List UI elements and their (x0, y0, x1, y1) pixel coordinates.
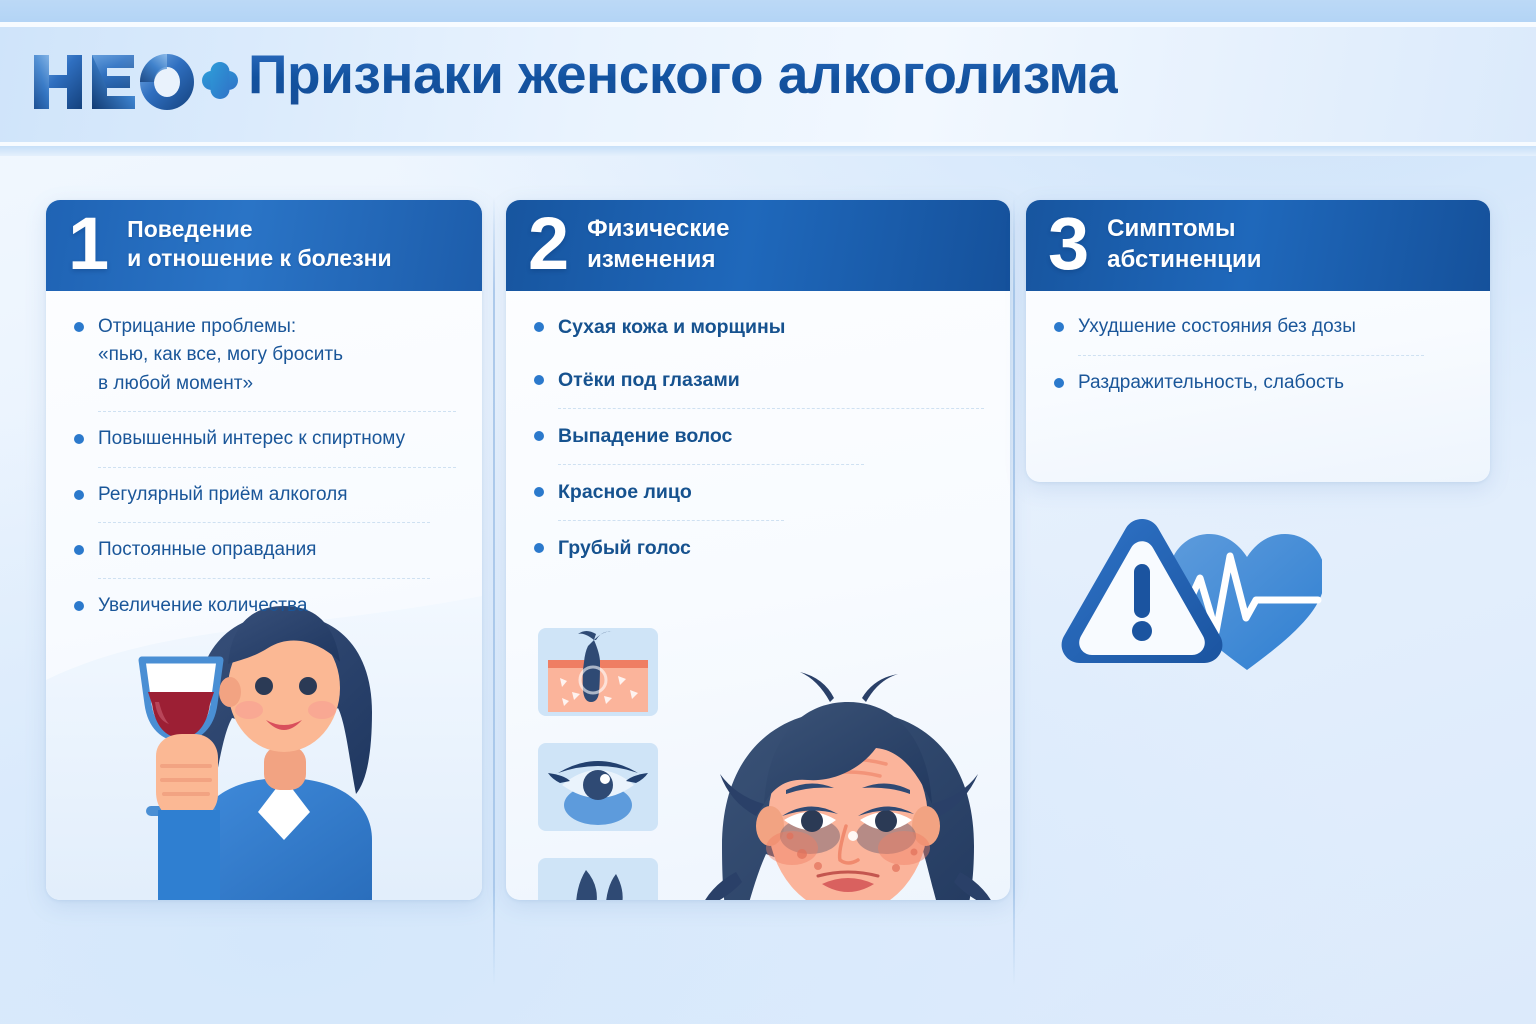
list-divider (98, 411, 456, 412)
infographic-page: Признаки женского алкоголизма 1 Поведени… (0, 0, 1536, 1024)
neo-plus-logo-icon[interactable] (30, 46, 240, 118)
card-3-number: 3 (1048, 214, 1087, 275)
card-2-title: Физические изменения (587, 214, 729, 275)
list-item-text: Раздражительность, слабость (1078, 369, 1464, 398)
card-1-number: 1 (68, 214, 107, 275)
list-item-text: Увеличение количества (98, 592, 456, 621)
header-bottom-strip (0, 146, 1536, 156)
card-physical-changes: 2 Физические изменения (506, 200, 1010, 900)
column-separator-2 (1013, 196, 1015, 986)
card-1-list: Отрицание проблемы: «пью, как все, могу … (72, 313, 456, 621)
page-title: Признаки женского алкоголизма (248, 44, 1118, 105)
bullet-icon (74, 545, 84, 555)
list-item: Сухая кожа и морщины (532, 313, 984, 342)
bullet-icon (534, 543, 544, 553)
list-divider (98, 467, 456, 468)
list-divider (558, 408, 984, 409)
bullet-icon (1054, 322, 1064, 332)
medical-icon-column (538, 618, 668, 900)
bullet-icon (74, 601, 84, 611)
bullet-icon (74, 322, 84, 332)
list-item-text: Ухудшение состояния без дозы (1078, 313, 1464, 342)
card-1-header: 1 Поведение и отношение к болезни (46, 200, 482, 291)
list-item: Красное лицо (532, 478, 984, 507)
bullet-icon (534, 431, 544, 441)
list-item-text: Регулярный приём алкоголя (98, 481, 456, 510)
card-1-body: Отрицание проблемы: «пью, как все, могу … (46, 291, 482, 621)
list-item-text: Отёки под глазами (558, 366, 984, 395)
bullet-icon (74, 490, 84, 500)
card-3-title-line1: Симптомы (1107, 215, 1235, 242)
header-top-strip (0, 0, 1536, 22)
list-item: Регулярный приём алкоголя (72, 481, 456, 510)
list-item-text-3: в любой момент» (98, 370, 456, 399)
wine-glass-icon (142, 660, 220, 816)
card-3-title: Симптомы абстиненции (1107, 214, 1261, 275)
bullet-icon (534, 322, 544, 332)
card-2-title-line1: Физические (587, 215, 729, 242)
list-item: Выпадение волос (532, 422, 984, 451)
eye-bags-icon (538, 743, 658, 831)
card-3-list: Ухудшение состояния без дозы Раздражител… (1052, 313, 1464, 397)
bullet-icon (534, 487, 544, 497)
card-1-title-line2: и отношение к болезни (127, 244, 392, 273)
card-3-header: 3 Симптомы абстиненции (1026, 200, 1490, 291)
list-divider (558, 464, 864, 465)
card-1-title: Поведение и отношение к болезни (127, 215, 392, 274)
list-item-text: Красное лицо (558, 478, 984, 507)
list-divider (1078, 355, 1424, 356)
list-item: Повышенный интерес к спиртному (72, 425, 456, 454)
list-spacer (532, 354, 984, 355)
card-2-list: Сухая кожа и морщины Отёки под глазами В… (532, 313, 984, 563)
card-3-body: Ухудшение состояния без дозы Раздражител… (1026, 291, 1490, 397)
list-item: Ухудшение состояния без дозы (1052, 313, 1464, 342)
card-2-title-line2: изменения (587, 245, 729, 276)
list-item-text: Выпадение волос (558, 422, 984, 451)
list-item-text-2: «пью, как все, могу бросить (98, 341, 456, 370)
bullet-icon (1054, 378, 1064, 388)
tired-woman-portrait (678, 640, 1010, 900)
card-2-number: 2 (528, 214, 567, 275)
list-item: Раздражительность, слабость (1052, 369, 1464, 398)
column-separator-1 (493, 196, 495, 986)
list-item-text: Сухая кожа и морщины (558, 313, 984, 342)
list-item: Отрицание проблемы: «пью, как все, могу … (72, 313, 456, 399)
skin-pore-icon (538, 628, 658, 716)
list-item-text: Повышенный интерес к спиртному (98, 425, 456, 454)
card-withdrawal-symptoms: 3 Симптомы абстиненции Ухудшение состоян… (1026, 200, 1490, 482)
list-item-text: Отрицание проблемы: (98, 313, 456, 342)
card-behavior: 1 Поведение и отношение к болезни (46, 200, 482, 900)
list-item: Отёки под глазами (532, 366, 984, 395)
list-divider (98, 522, 430, 523)
list-item-text: Постоянные оправдания (98, 536, 456, 565)
list-item-text: Грубый голос (558, 534, 984, 563)
bullet-icon (74, 434, 84, 444)
card-2-header: 2 Физические изменения (506, 200, 1010, 291)
list-divider (98, 578, 430, 579)
card-1-title-line1: Поведение (127, 216, 252, 242)
card-3-illustration (1052, 512, 1322, 682)
list-item: Грубый голос (532, 534, 984, 563)
list-item: Увеличение количества (72, 592, 456, 621)
card-2-body: Сухая кожа и морщины Отёки под глазами В… (506, 291, 1010, 563)
bullet-icon (534, 375, 544, 385)
list-item: Постоянные оправдания (72, 536, 456, 565)
hair-loss-icon (538, 858, 658, 900)
list-divider (558, 520, 784, 521)
card-3-title-line2: абстиненции (1107, 245, 1261, 276)
